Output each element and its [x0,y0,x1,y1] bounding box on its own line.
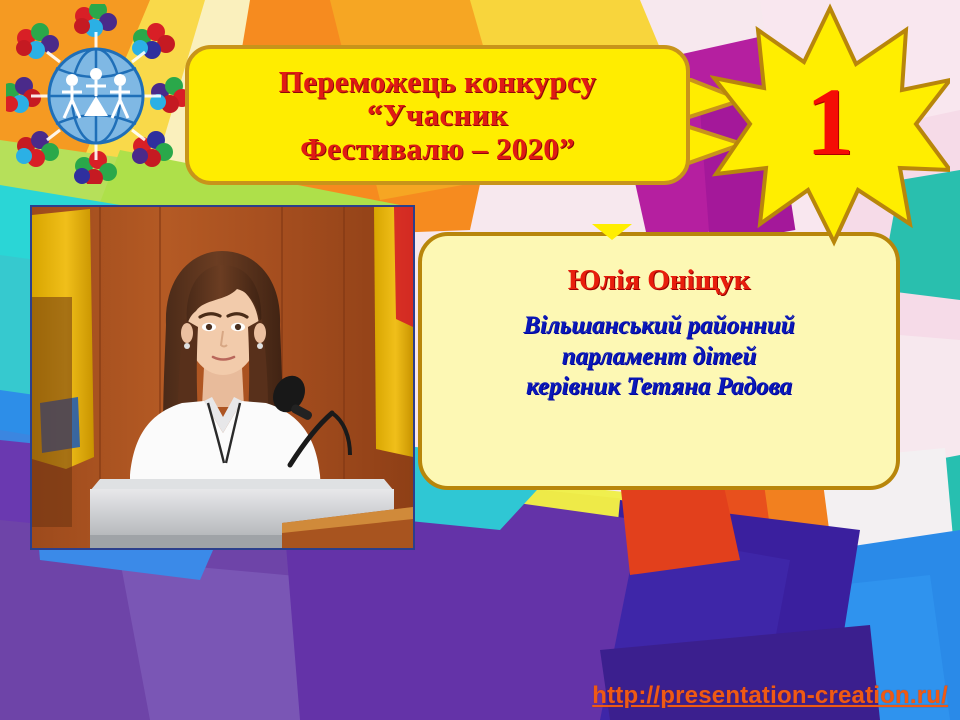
winner-name: Юлія Оніщук [568,264,751,297]
title-line-3: Фестивалю – 2020” [279,132,597,165]
star-rank-number: 1 [710,2,950,247]
rank-star-badge: 1 [710,2,950,247]
title-line-1: Переможець конкурсу [279,65,597,98]
source-url-link[interactable]: http://presentation-creation.ru/ [592,682,948,710]
org-line-3: керівник Тетяна Радова [523,372,794,403]
title-banner: Переможець конкурсу “Учасник Фестивалю –… [185,45,690,185]
org-line-1: Вільшанський районний [523,311,794,342]
speaker-photo [30,205,415,550]
panel-notch-svg [592,224,632,240]
presentation-slide: Переможець конкурсу “Учасник Фестивалю –… [0,0,960,720]
emblem-svg [6,4,186,184]
panel-notch [592,224,632,245]
title-line-2: “Учасник [279,98,597,131]
speaker-photo-svg [32,207,413,548]
title-banner-text: Переможець конкурсу “Учасник Фестивалю –… [271,65,605,164]
winner-info-panel: Юлія Оніщук Вільшанський районний парлам… [418,232,900,490]
org-line-2: парламент дітей [523,342,794,373]
winner-organization: Вільшанський районний парламент дітей ке… [523,311,794,403]
children-parliament-emblem [6,4,186,184]
